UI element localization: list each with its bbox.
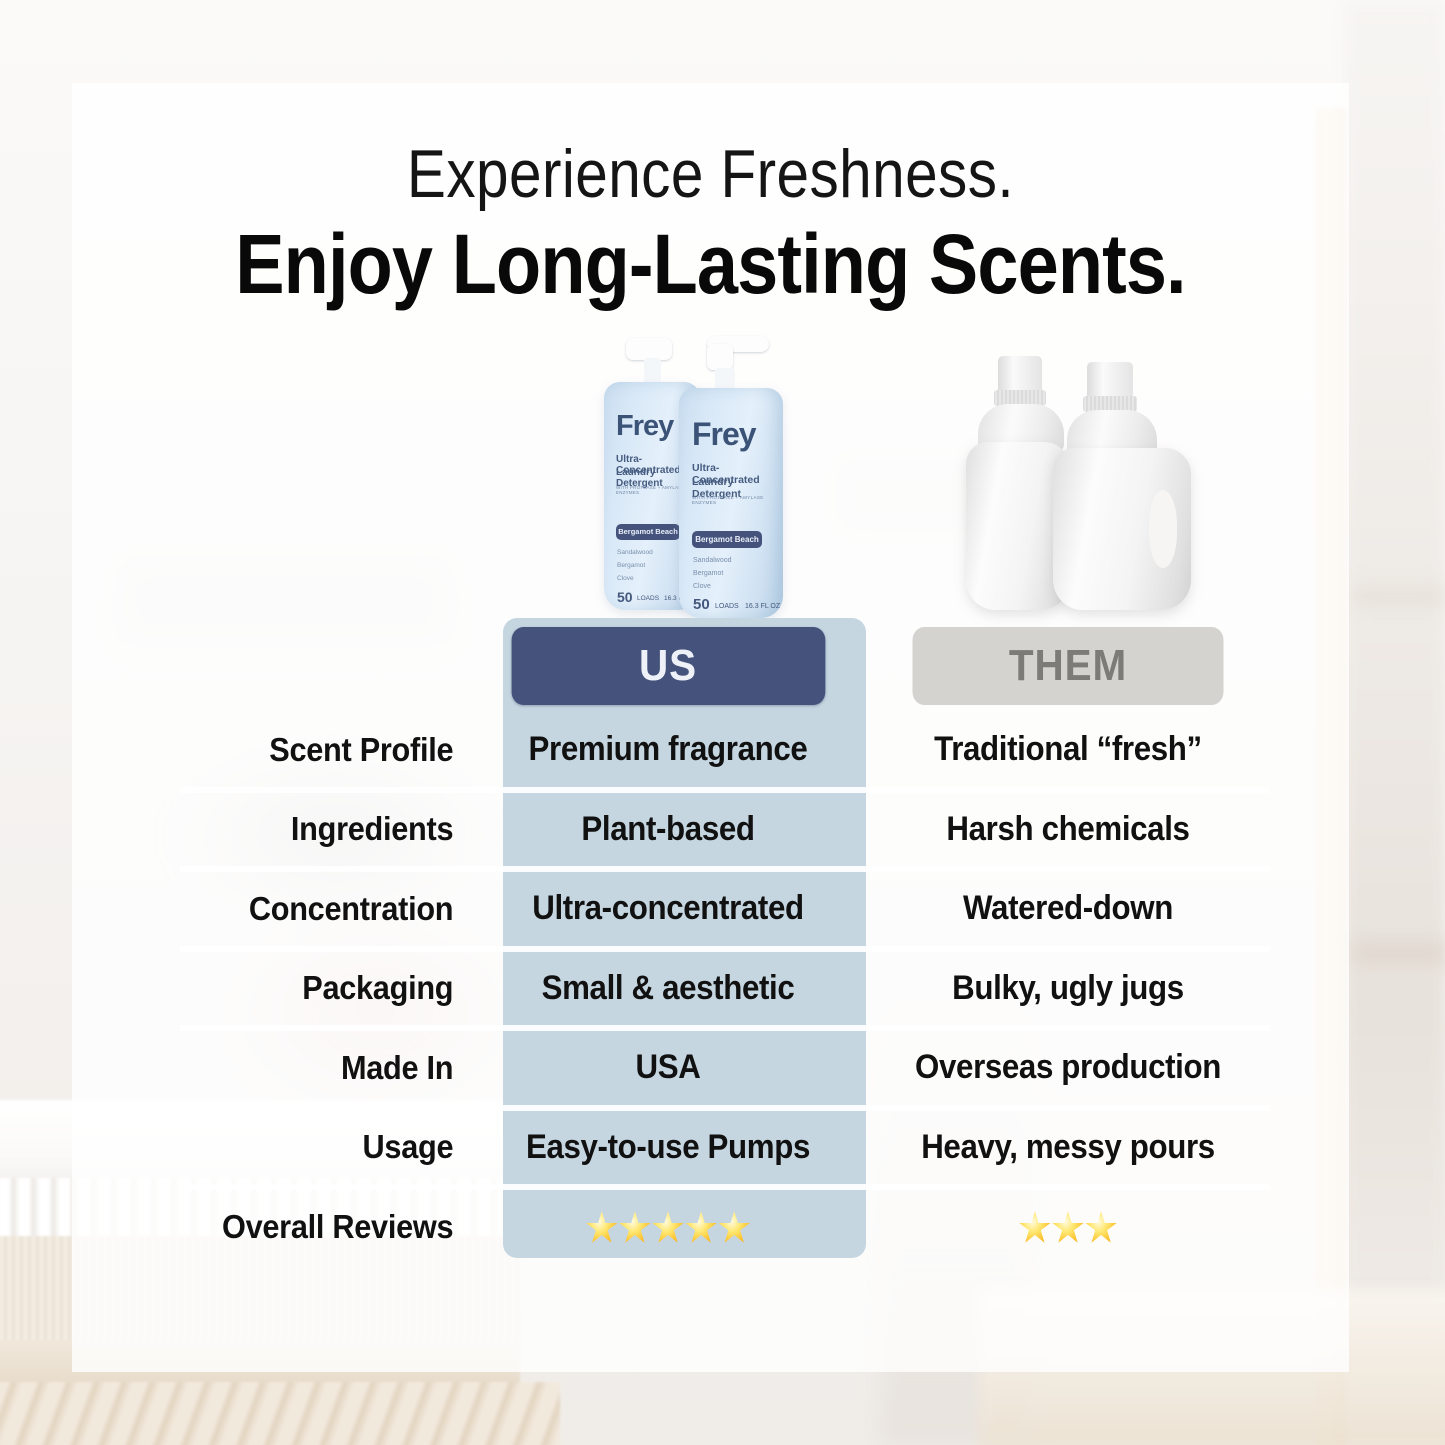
headline-line-1: Experience Freshness. [161, 140, 1259, 208]
row-them-value: Overseas production [882, 1048, 1254, 1087]
headline-block: Experience Freshness. Enjoy Long-Lasting… [72, 140, 1349, 308]
star-icon [1085, 1211, 1116, 1244]
us-star-rating [585, 1204, 751, 1245]
row-label: Ingredients [200, 810, 470, 848]
row-them-value: Traditional “fresh” [882, 730, 1254, 769]
header-us-cell: US [486, 627, 850, 705]
table-row: Usage Easy-to-use Pumps Heavy, messy pou… [180, 1111, 1270, 1185]
row-us-value: Premium fragrance [486, 730, 850, 769]
us-badge: US [511, 627, 825, 705]
row-label: Made In [200, 1049, 470, 1087]
background-woven-basket [0, 1382, 560, 1445]
them-badge: THEM [913, 627, 1224, 705]
star-icon [619, 1211, 650, 1244]
row-them-value [882, 1207, 1254, 1246]
header-them-cell: THEM [882, 627, 1254, 705]
row-them-value: Harsh chemicals [882, 810, 1254, 849]
table-row-reviews: Overall Reviews [180, 1190, 1270, 1264]
row-label: Packaging [200, 969, 470, 1007]
row-label: Usage [200, 1128, 470, 1166]
row-us-value: Plant-based [486, 810, 850, 849]
row-us-value: Ultra-concentrated [486, 889, 850, 928]
row-them-value: Watered-down [882, 889, 1254, 928]
table-row: Scent Profile Premium fragrance Traditio… [180, 713, 1270, 787]
background-shelf-ledge-upper [1352, 585, 1445, 607]
row-us-value: Easy-to-use Pumps [486, 1128, 850, 1167]
star-icon [719, 1211, 750, 1244]
star-icon [685, 1211, 716, 1244]
row-us-value: USA [486, 1048, 850, 1087]
background-shelf [1345, 0, 1445, 1445]
row-them-value: Bulky, ugly jugs [882, 969, 1254, 1008]
them-star-rating [1018, 1204, 1117, 1245]
table-row: Packaging Small & aesthetic Bulky, ugly … [180, 952, 1270, 1026]
row-label: Overall Reviews [200, 1208, 470, 1246]
table-row: Ingredients Plant-based Harsh chemicals [180, 793, 1270, 867]
star-icon [586, 1211, 617, 1244]
table-row: Concentration Ultra-concentrated Watered… [180, 872, 1270, 946]
star-icon [1052, 1211, 1083, 1244]
star-icon [1019, 1211, 1050, 1244]
row-us-value: Small & aesthetic [486, 969, 850, 1008]
table-grid: US THEM Scent Profile Premium fragrance … [180, 618, 1270, 1264]
table-row: Made In USA Overseas production [180, 1031, 1270, 1105]
background-shelf-ledge [1352, 940, 1445, 966]
row-label: Scent Profile [200, 731, 470, 769]
headline-line-2: Enjoy Long-Lasting Scents. [149, 220, 1273, 308]
row-label: Concentration [200, 890, 470, 928]
row-them-value: Heavy, messy pours [882, 1128, 1254, 1167]
row-us-value [486, 1207, 850, 1246]
comparison-table: US THEM Scent Profile Premium fragrance … [180, 618, 1270, 1264]
star-icon [652, 1211, 683, 1244]
table-header-row: US THEM [180, 618, 1270, 713]
